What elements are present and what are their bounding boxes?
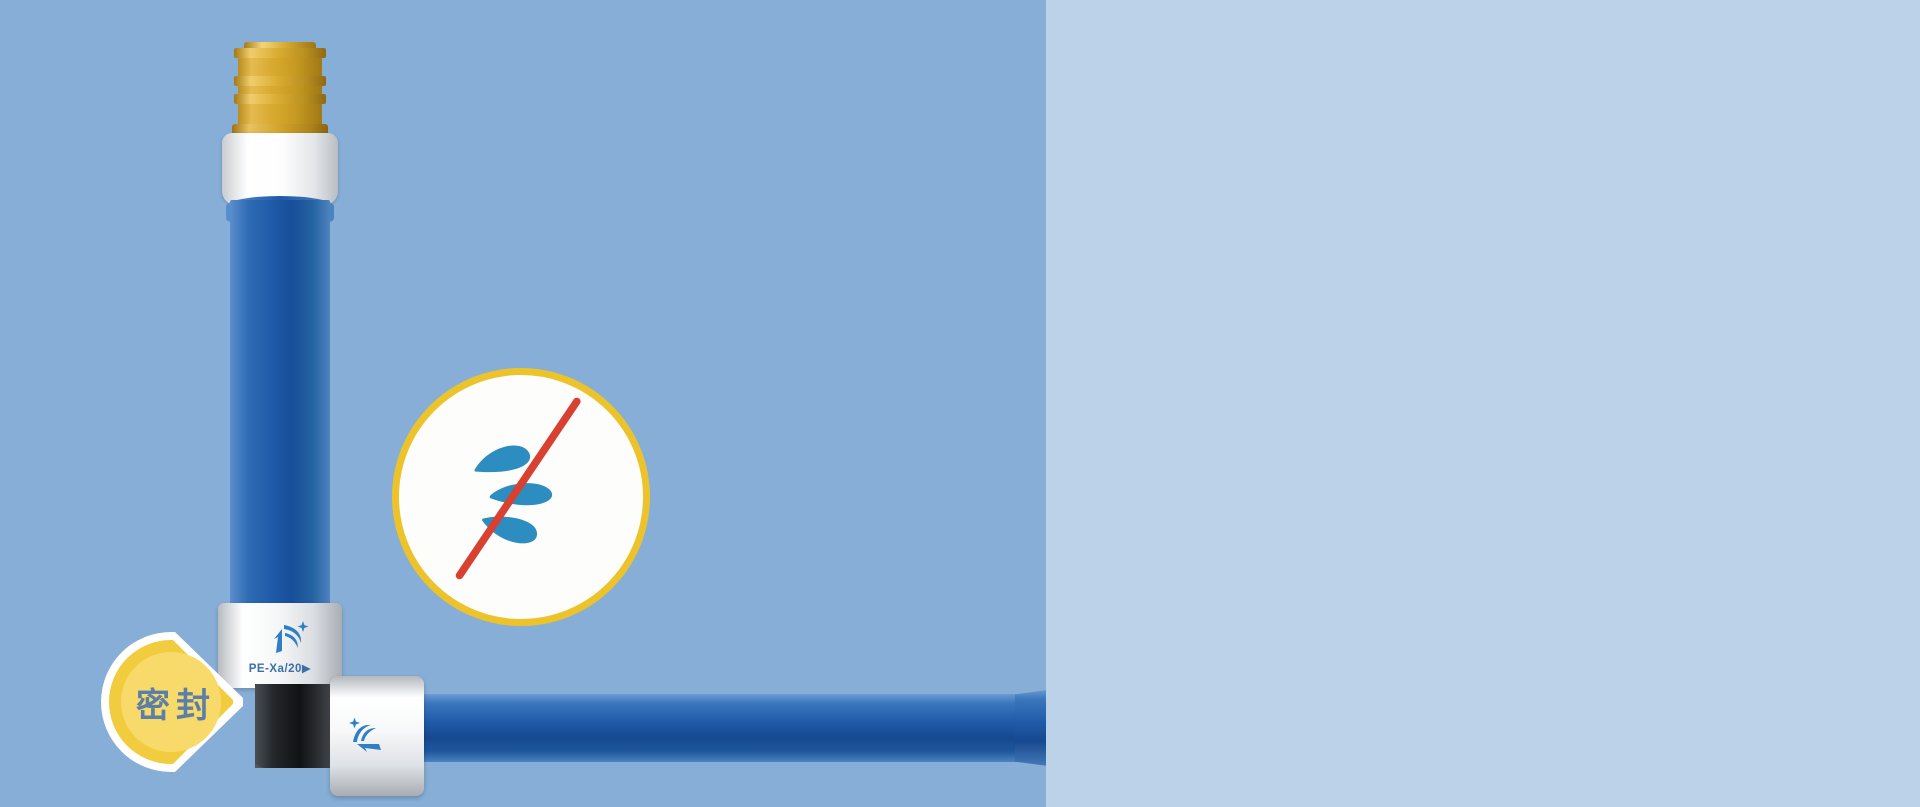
- horizontal-pipe-collar: PE-Xa/20▶: [330, 676, 424, 796]
- brass-rib: [234, 94, 326, 104]
- brass-rib: [234, 76, 326, 86]
- brand-sail-logo: [346, 714, 386, 758]
- brass-rib: [234, 48, 326, 58]
- horizontal-pipe-taper: [1015, 686, 1046, 770]
- page-root: PE-Xa/20▶ PE-Xa/20▶: [0, 0, 1920, 807]
- no-leak-magnifier: [392, 368, 650, 626]
- brass-fitting: [232, 38, 328, 138]
- feature-description-panel: 环环相扣，紧密安全 小环大作用，将快易环套于管材上，连接PPSU管件和铜件，环环…: [1046, 0, 1920, 807]
- upper-white-sleeve: [222, 133, 338, 205]
- brass-body: [238, 52, 322, 128]
- product-illustration-panel: PE-Xa/20▶ PE-Xa/20▶: [0, 0, 1046, 807]
- prohibition-slash: [460, 401, 577, 575]
- seal-badge-label: 密封: [111, 678, 235, 727]
- vertical-blue-pipe: [230, 200, 330, 630]
- horizontal-blue-pipe: [385, 694, 1046, 762]
- seal-callout-badge: 密封: [97, 628, 277, 776]
